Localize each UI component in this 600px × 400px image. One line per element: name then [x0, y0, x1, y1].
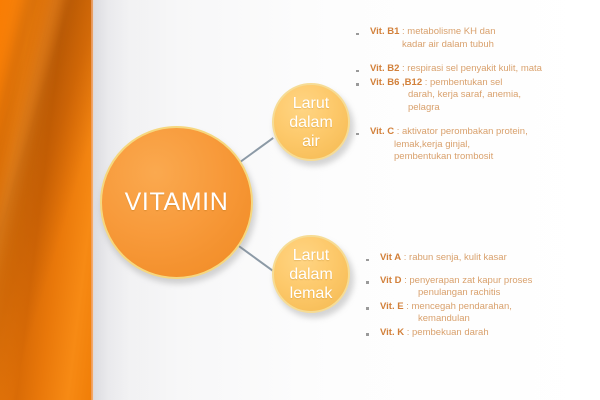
band-edge-highlight	[91, 0, 94, 400]
list-item-body: Vit. K : pembekuan darah	[380, 327, 600, 340]
list-item-body: Vit. B6 ,B12 : pembentukan sel darah, ke…	[370, 77, 600, 115]
list-item-body: Vit. B1 : metabolisme KH dan kadar air d…	[370, 26, 600, 51]
water-soluble-list: Vit. B1 : metabolisme KH dan kadar air d…	[356, 26, 600, 164]
bullet-icon	[356, 77, 370, 87]
band-streak-light	[0, 0, 79, 400]
list-item-body: Vit D : penyerapan zat kapur proses penu…	[380, 275, 600, 300]
list-item-body: Vit. E : mencegah pendarahan, kemandulan	[380, 301, 600, 326]
slide-canvas: VITAMIN Larut dalam air Larut dalam lema…	[0, 0, 600, 400]
bullet-icon	[366, 275, 380, 285]
list-item-body: Vit. B2 : respirasi sel penyakit kulit, …	[370, 63, 600, 76]
branch-circle-water-label: Larut dalam air	[289, 94, 333, 151]
band-streak-dark	[0, 0, 59, 400]
list-item-body: Vit. C : aktivator perombakan protein, l…	[370, 126, 600, 164]
list-item: Vit A : rabun senja, kulit kasar	[366, 252, 600, 265]
list-item: Vit. E : mencegah pendarahan, kemandulan	[366, 301, 600, 326]
list-item: Vit. B6 ,B12 : pembentukan sel darah, ke…	[356, 77, 600, 115]
bullet-icon	[356, 63, 370, 73]
list-item: Vit. C : aktivator perombakan protein, l…	[356, 126, 600, 164]
bullet-icon	[366, 327, 380, 337]
bullet-icon	[366, 252, 380, 262]
main-circle-vitamin[interactable]: VITAMIN	[100, 126, 253, 279]
list-item-body: Vit A : rabun senja, kulit kasar	[380, 252, 600, 265]
bullet-icon	[356, 26, 370, 36]
fat-soluble-list: Vit A : rabun senja, kulit kasar Vit D :…	[366, 252, 600, 339]
list-item: Vit. B2 : respirasi sel penyakit kulit, …	[356, 63, 600, 76]
bullet-icon	[356, 126, 370, 136]
list-item: Vit. K : pembekuan darah	[366, 327, 600, 340]
list-item: Vit. B1 : metabolisme KH dan kadar air d…	[356, 26, 600, 51]
branch-circle-fat-soluble[interactable]: Larut dalam lemak	[272, 235, 350, 313]
branch-circle-water-soluble[interactable]: Larut dalam air	[272, 83, 350, 161]
main-circle-label: VITAMIN	[125, 188, 229, 217]
list-item: Vit D : penyerapan zat kapur proses penu…	[366, 275, 600, 300]
left-orange-band	[0, 0, 93, 400]
bullet-icon	[366, 301, 380, 311]
branch-circle-fat-label: Larut dalam lemak	[289, 246, 333, 303]
